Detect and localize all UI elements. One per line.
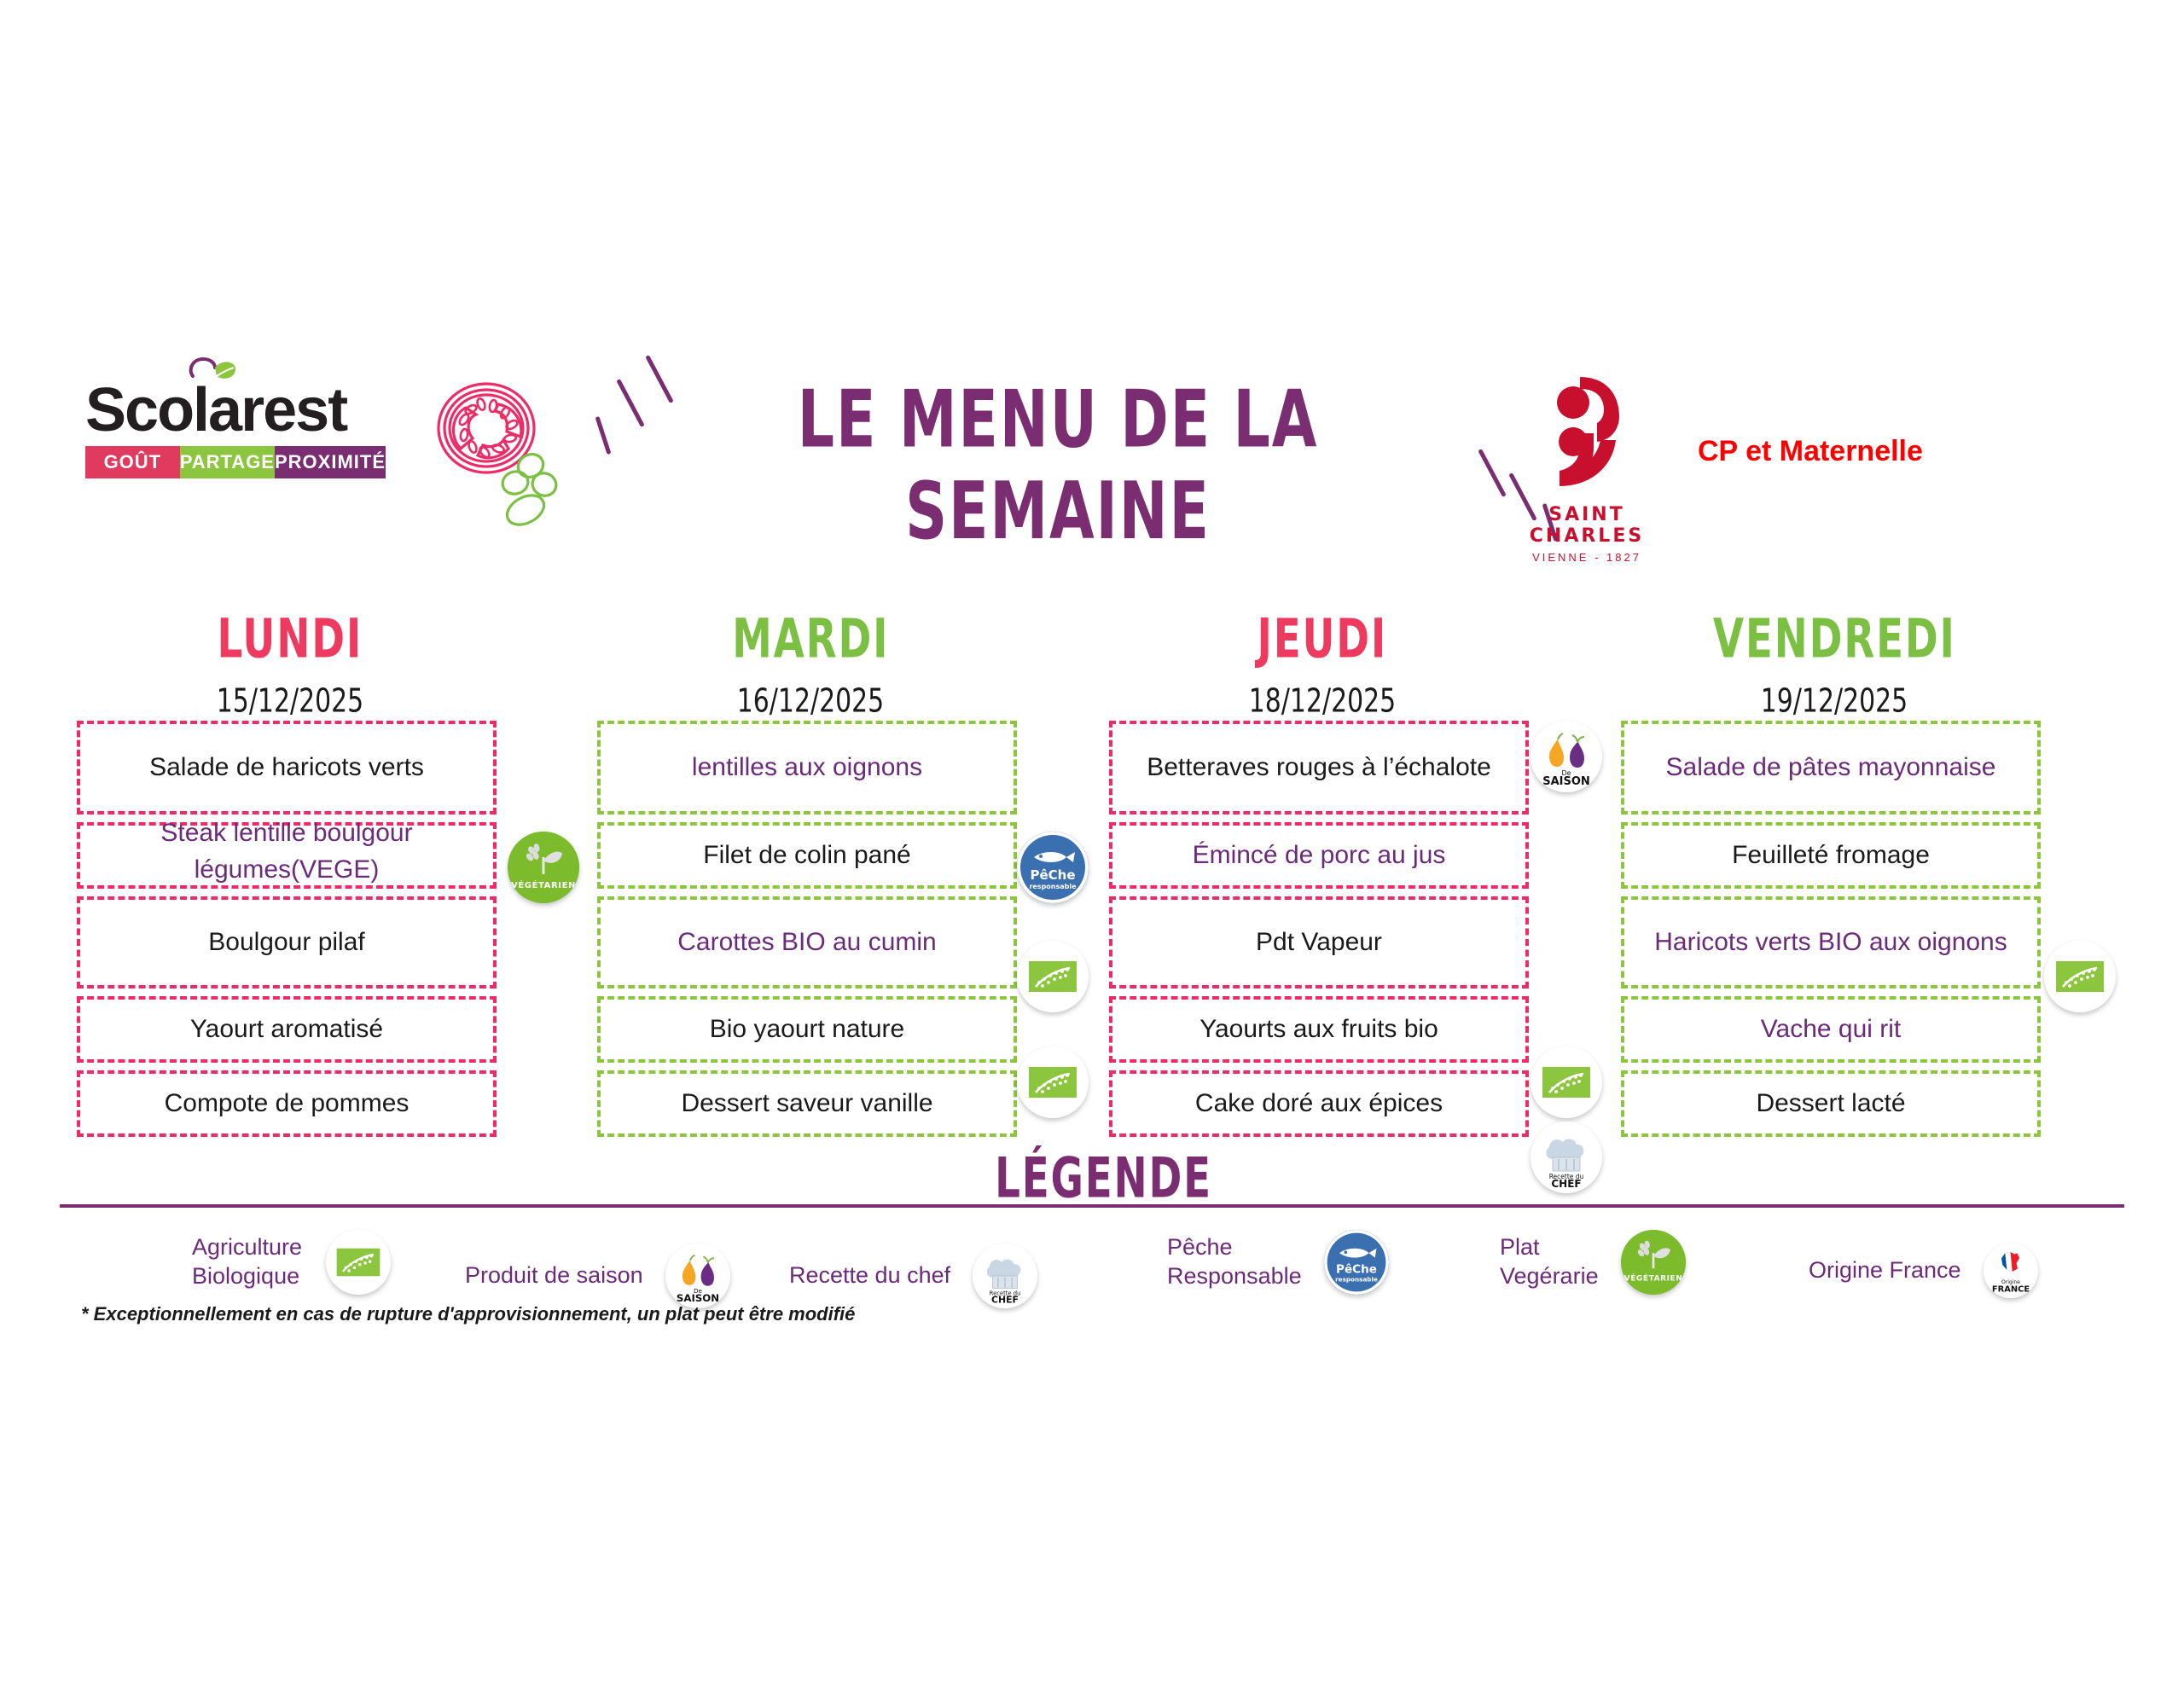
saint-charles-name: SAINT CHARLES <box>1501 504 1672 547</box>
menu-item: Betteraves rouges à l’échalote <box>1109 721 1529 815</box>
agriculture-biologique-icon <box>1017 1046 1089 1118</box>
svg-text:CHEF: CHEF <box>1551 1178 1581 1190</box>
legend-title: LÉGENDE <box>947 1153 1261 1204</box>
svg-text:CHEF: CHEF <box>991 1295 1019 1306</box>
legend-label: Recette du chef <box>789 1261 950 1290</box>
menu-item: Pdt Vapeur <box>1109 896 1529 988</box>
legend-label: Origine France <box>1809 1256 1961 1285</box>
menu-item: Émincé de porc au jus <box>1109 822 1529 889</box>
vegetarien-icon: VÉGÉTARIEN <box>508 832 579 903</box>
menu-item: Bio yaourt nature <box>597 996 1017 1063</box>
menu-column-mardi: lentilles aux oignons Filet de colin pan… <box>597 721 1017 1145</box>
menu-poster: Scolarest GOÛT PARTAGE PROXIMITÉ <box>0 0 2184 1687</box>
legend-item-recette-du-chef: Recette du chef Recette du CHEF <box>789 1244 1037 1308</box>
audience-label: CP et Maternelle <box>1698 435 1923 468</box>
legend-item-produit-de-saison: Produit de saison De SAISON <box>465 1244 730 1308</box>
legend-item-agriculture-biologique: Agriculture Biologique <box>192 1230 391 1295</box>
menu-item: Yaourt aromatisé <box>77 996 497 1063</box>
svg-text:FRANCE: FRANCE <box>1991 1284 2030 1294</box>
scolarest-wordmark: Scolarest <box>85 380 392 441</box>
menu-item: Salade de pâtes mayonnaise <box>1621 721 2041 815</box>
footnote: * Exceptionnellement en cas de rupture d… <box>81 1303 855 1325</box>
recette-du-chef-icon: Recette du CHEF <box>973 1244 1037 1308</box>
svg-text:responsable: responsable <box>1335 1276 1378 1284</box>
leaf-icon <box>186 354 241 388</box>
agriculture-biologique-icon <box>2044 941 2116 1012</box>
day-header-jeudi: JEUDI 18/12/2025 <box>1109 614 1536 718</box>
scolarest-tagline-bar: GOÛT PARTAGE PROXIMITÉ <box>85 446 386 478</box>
menu-grid: Salade de haricots verts Steak lentille … <box>0 721 2184 1168</box>
legend-item-origine-france: Origine France Origine FRANCE <box>1809 1244 2038 1298</box>
menu-item: lentilles aux oignons <box>597 721 1017 815</box>
scolarest-logo: Scolarest GOÛT PARTAGE PROXIMITÉ <box>85 380 392 478</box>
menu-item: Yaourts aux fruits bio <box>1109 996 1529 1063</box>
recette-du-chef-icon: Recette du CHEF <box>1531 1122 1602 1193</box>
svg-text:responsable: responsable <box>1029 883 1077 890</box>
de-saison-icon: De SAISON <box>665 1244 730 1308</box>
tagline-partage: PARTAGE <box>180 446 275 478</box>
menu-column-lundi: Salade de haricots verts Steak lentille … <box>77 721 497 1145</box>
origine-france-icon: Origine FRANCE <box>1984 1244 2038 1298</box>
legend-label: Plat Vegérarie <box>1500 1233 1599 1291</box>
tagline-gout: GOÛT <box>85 446 180 478</box>
saint-charles-subtitle: VIENNE - 1827 <box>1501 551 1672 564</box>
svg-text:VÉGÉTARIEN: VÉGÉTARIEN <box>1623 1273 1682 1284</box>
page-title: LE MENU DE LA SEMAINE <box>648 392 1467 539</box>
agriculture-biologique-icon <box>326 1230 391 1295</box>
menu-item: Boulgour pilaf <box>77 896 497 988</box>
svg-text:VÉGÉTARIEN: VÉGÉTARIEN <box>511 879 576 890</box>
vegetarien-icon: VÉGÉTARIEN <box>1621 1230 1686 1295</box>
tagline-proximite: PROXIMITÉ <box>275 446 386 478</box>
menu-item: Haricots verts BIO aux oignons <box>1621 896 2041 988</box>
menu-column-jeudi: Betteraves rouges à l’échalote Émincé de… <box>1109 721 1529 1145</box>
menu-column-vendredi: Salade de pâtes mayonnaise Feuilleté fro… <box>1621 721 2041 1145</box>
agriculture-biologique-icon <box>1531 1046 1602 1118</box>
svg-text:SAISON: SAISON <box>677 1292 719 1304</box>
legend-item-plat-vegetarien: Plat Vegérarie VÉGÉTARIEN <box>1500 1230 1686 1295</box>
svg-text:SAISON: SAISON <box>1542 775 1590 788</box>
agriculture-biologique-icon <box>1017 941 1089 1012</box>
svg-text:PêChe: PêChe <box>1336 1263 1377 1277</box>
saint-charles-logo: SAINT CHARLES VIENNE - 1827 <box>1501 367 1672 564</box>
saint-charles-mark-icon <box>1536 367 1638 495</box>
menu-item: Compote de pommes <box>77 1070 497 1137</box>
menu-item: Cake doré aux épices <box>1109 1070 1529 1137</box>
menu-item: Vache qui rit <box>1621 996 2041 1063</box>
poster-header: Scolarest GOÛT PARTAGE PROXIMITÉ <box>0 358 2184 597</box>
day-header-lundi: LUNDI 15/12/2025 <box>77 614 503 718</box>
menu-item: Carottes BIO au cumin <box>597 896 1017 988</box>
day-header-mardi: MARDI 16/12/2025 <box>597 614 1024 718</box>
legend-label: Produit de saison <box>465 1261 643 1290</box>
menu-item: Dessert lacté <box>1621 1070 2041 1137</box>
menu-item: Steak lentille boulgour légumes(VEGE) <box>77 822 497 889</box>
peche-responsable-icon: PêChe responsable <box>1324 1230 1389 1295</box>
menu-item: Filet de colin pané <box>597 822 1017 889</box>
legend-label: Agriculture Biologique <box>192 1233 302 1291</box>
svg-text:PêChe: PêChe <box>1030 867 1075 883</box>
menu-item: Dessert saveur vanille <box>597 1070 1017 1137</box>
menu-item: Feuilleté fromage <box>1621 822 2041 889</box>
de-saison-icon: De SAISON <box>1531 721 1602 792</box>
day-header-vendredi: VENDREDI 19/12/2025 <box>1621 614 2047 718</box>
day-headers: LUNDI 15/12/2025 MARDI 16/12/2025 JEUDI … <box>0 614 2184 725</box>
legend-label: Pêche Responsable <box>1167 1233 1302 1291</box>
legend-item-peche-responsable: Pêche Responsable PêChe responsable <box>1167 1230 1389 1295</box>
tomato-slice-decoration-icon <box>427 375 580 529</box>
peche-responsable-icon: PêChe responsable <box>1017 832 1089 903</box>
menu-item: Salade de haricots verts <box>77 721 497 815</box>
